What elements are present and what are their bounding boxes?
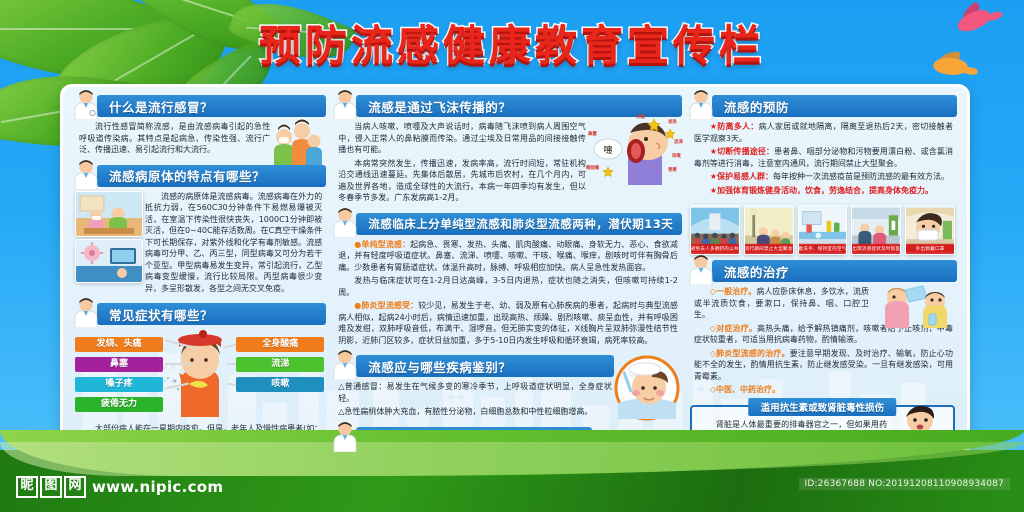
symptom-diagram: 发烧、头痛 鼻塞 嗓子疼 疲倦无力 全身酸痛 流涕 咳嗽 xyxy=(73,327,326,419)
doctor-avatar-icon xyxy=(71,158,101,190)
paragraph: 流感的病原体是流感病毒。流感病毒在外力的抵抗力弱，在560C30分钟条件下易燃易… xyxy=(145,191,322,295)
section-title: 流感应与哪些疾病鉴别？ xyxy=(368,357,511,376)
section-differential-diagnosis: 流感应与哪些疾病鉴别？ △普通感冒：易发生在气候多变的寒冷季节，上呼吸道症状明显… xyxy=(332,355,682,422)
logo-char: 昵 xyxy=(16,476,38,498)
photo-caption: 外出佩戴口罩 xyxy=(906,245,954,254)
site-url[interactable]: www.nipic.com xyxy=(92,478,223,496)
section-treatment: 流感的治疗 ◇一般治疗。病人应卧床休息，多饮水，流质或半流质饮食，要漱口，保持鼻… xyxy=(688,260,957,400)
section-title: 流感病原体的特点有哪些？ xyxy=(109,166,265,185)
column-middle: 流感是通过飞沫传播的？ 当病人咳嗽、喷嚏及大声说话时，病毒随飞沫喷到病人周围空气… xyxy=(332,95,682,449)
doctor-avatar-icon xyxy=(330,348,360,380)
symptom-tag: 流涕 xyxy=(236,357,324,372)
paragraph: 本病常突然发生，传播迅速，发病率高，流行时间短，常驻机构沿交通线迅速蔓延。先集体… xyxy=(338,158,586,204)
footer-wave-decoration-light xyxy=(0,442,1024,476)
poster-title: 预防流感健康教育宣传栏 xyxy=(0,22,1024,70)
paragraph: △急性扁桃体肿大充血，有脓性分泌物，白细胞总数和中性粒细胞增高。 xyxy=(338,406,612,418)
symptom-tag: 鼻塞 xyxy=(75,357,163,372)
photo-card: 出现流感症状及时就医 xyxy=(851,205,901,255)
keyword: ◇肺炎型流感的治疗。 xyxy=(710,349,790,358)
content-panel: 什么是流行感冒？ 流行性感冒简称流感，是由流感病毒引起的急性呼吸道传染病。其特点… xyxy=(60,84,970,458)
photo-caption: 流行期间禁止大型聚会 xyxy=(745,245,793,254)
section-header-bar: 什么是流行感冒？ xyxy=(97,95,326,117)
prevention-photo-strip: 避免去人多拥挤的公共场所 流行期间禁止大 xyxy=(690,205,955,255)
section-what-is-flu: 什么是流行感冒？ 流行性感冒简称流感，是由流感病毒引起的急性呼吸道传染病。其特点… xyxy=(73,95,326,160)
logo-char: 网 xyxy=(64,476,86,498)
doctor-avatar-icon xyxy=(71,296,101,328)
symptom-tag: 疲倦无力 xyxy=(75,397,163,412)
keyword: ★防离多人： xyxy=(710,122,759,131)
section-title: 流感的治疗 xyxy=(724,262,789,281)
footer-bar: 昵 图 网 www.nipic.com ID:26367688 NO:20191… xyxy=(0,450,1024,512)
section-header-bar: 流感的治疗 xyxy=(712,260,957,282)
doctor-avatar-icon xyxy=(71,88,101,120)
svg-text:头痛: 头痛 xyxy=(636,113,645,120)
paragraph: ★加强体育锻炼健身活动，饮食，劳逸结合，提高身体免疫力。 xyxy=(694,185,953,197)
photo-card: 外出佩戴口罩 xyxy=(905,205,955,255)
svg-text:发热: 发热 xyxy=(667,118,677,125)
section-header-bar: 流感临床上分单纯型流感和肺炎型流感两种，潜伏期13天 xyxy=(356,213,682,235)
logo-char: 图 xyxy=(40,476,62,498)
drinking-water-illustration xyxy=(875,284,957,328)
paragraph: 流行性感冒简称流感，是由流感病毒引起的急性呼吸道传染病。其特点是起病急、传染性强… xyxy=(79,121,270,156)
symptom-tag: 全身酸痛 xyxy=(236,337,324,352)
keyword: ◇中医、中药治疗。 xyxy=(710,385,780,394)
symptom-tag: 发烧、头痛 xyxy=(75,337,163,352)
paragraph: △普通感冒：易发生在气候多变的寒冷季节，上呼吸道症状明显，全身症状轻。 xyxy=(338,381,612,404)
svg-text:流涕: 流涕 xyxy=(674,138,683,145)
classroom-illustration xyxy=(75,191,143,237)
paragraph: 发热与临床症状可在1-2月日达高峰，3-5日内退热，症状也随之消失，但咳嗽可持续… xyxy=(338,275,678,298)
photo-card: 避免去人多拥挤的公共场所 xyxy=(690,205,740,255)
section-body: ★防离多人：病人家居或就地隔离，隔离至退热后2天，密切接触者医学观察3天。 ★切… xyxy=(688,117,957,200)
symptom-tag: 嗓子疼 xyxy=(75,377,163,392)
paragraph: 当病人咳嗽、喷嚏及大声说话时，病毒随飞沫喷到病人周围空气中，侵入正常人的鼻粘膜而… xyxy=(338,121,586,156)
keyword: ●肺炎型流感受： xyxy=(354,301,418,310)
coughing-person-illustration: 嚏 头痛发热 流涕咳嗽 鼻塞喉咙痛 畏寒 xyxy=(584,113,684,187)
section-header-bar: 流感的预防 xyxy=(712,95,957,117)
doctor-avatar-icon xyxy=(330,206,360,238)
antibiotic-warning-title: 滥用抗生素或致肾脏毒性损伤 xyxy=(749,398,897,416)
svg-text:咳嗽: 咳嗽 xyxy=(672,152,681,159)
photo-card: 流行期间禁止大型聚会 xyxy=(744,205,794,255)
section-title: 流感临床上分单纯型流感和肺炎型流感两种，潜伏期13天 xyxy=(368,216,673,232)
keyword: ◇对症治疗。 xyxy=(710,324,757,333)
virus-lab-illustration xyxy=(75,239,143,283)
svg-text:鼻塞: 鼻塞 xyxy=(588,130,597,137)
column-left: 什么是流行感冒？ 流行性感冒简称流感，是由流感病毒引起的急性呼吸道传染病。其特点… xyxy=(73,95,326,449)
section-header-bar: 常见症状有哪些？ xyxy=(97,303,326,325)
keyword: ★保护易感人群： xyxy=(710,172,773,181)
photo-caption: 出现流感症状及时就医 xyxy=(852,245,900,254)
section-title: 流感是通过飞沫传播的？ xyxy=(368,97,511,116)
doctor-avatar-icon xyxy=(686,253,716,285)
section-title: 流感的预防 xyxy=(724,97,789,116)
section-prevention: 流感的预防 ★防离多人：病人家居或就地隔离，隔离至退热后2天，密切接触者医学观察… xyxy=(688,95,957,200)
section-droplet-transmission: 流感是通过飞沫传播的？ 当病人咳嗽、喷嚏及大声说话时，病毒随飞沫喷到病人周围空气… xyxy=(332,95,682,208)
family-illustration xyxy=(268,117,326,169)
poster-canvas: 预防流感健康教育宣传栏 xyxy=(0,0,1024,512)
keyword: ◇一般治疗。 xyxy=(710,287,756,296)
image-id-tag: ID:26367688 NO:20191208110908934087 xyxy=(799,478,1011,490)
keyword: ●单纯型流感： xyxy=(354,240,410,249)
svg-text:嚏: 嚏 xyxy=(603,144,612,156)
sick-child-in-bed-illustration xyxy=(612,355,682,421)
paragraph: ●肺炎型流感受：较少见，易发生于老、幼、弱及原有心肺疾病的患者，起病时与典型流感… xyxy=(338,300,678,346)
section-title: 什么是流行感冒？ xyxy=(109,97,213,116)
section-clinical-types: 流感临床上分单纯型流感和肺炎型流感两种，潜伏期13天 ●单纯型流感：起病急、畏寒… xyxy=(332,213,682,351)
sick-person-illustration xyxy=(151,329,249,419)
paragraph: ★保护易感人群：每年按种一次流感疫苗是预防流感的最有效方法。 xyxy=(694,171,953,183)
keyword: ★加强体育锻炼健身活动，饮食，劳逸结合，提高身体免疫力。 xyxy=(710,186,933,195)
paragraph: ◇肺炎型流感的治疗。要注意早期发现、及时治疗、输氧，防止心功能不全的发生，酌情用… xyxy=(694,348,953,383)
photo-caption: 勤洗手、保持室内空气流通 xyxy=(799,245,847,254)
doctor-avatar-icon xyxy=(330,88,360,120)
paragraph: ◇中医、中药治疗。 xyxy=(694,384,953,396)
paragraph: ★切断传播途径：患者鼻、咽部分泌物和污物要用漂白粉、或含氯消毒剂等进行消毒，注意… xyxy=(694,146,953,169)
paragraph: ★防离多人：病人家居或就地隔离，隔离至退热后2天，密切接触者医学观察3天。 xyxy=(694,121,953,144)
poster-title-text: 预防流感健康教育宣传栏 xyxy=(259,22,765,70)
section-header-bar: 流感应与哪些疾病鉴别？ xyxy=(356,355,614,377)
symptom-tag: 咳嗽 xyxy=(236,377,324,392)
keyword: ★切断传播途径： xyxy=(710,147,774,156)
svg-text:喉咙痛: 喉咙痛 xyxy=(586,164,600,171)
photo-card: 勤洗手、保持室内空气流通 xyxy=(798,205,848,255)
logo-characters: 昵 图 网 xyxy=(16,476,86,498)
column-right: 流感的预防 ★防离多人：病人家居或就地隔离，隔离至退热后2天，密切接触者医学观察… xyxy=(688,95,957,449)
site-logo[interactable]: 昵 图 网 www.nipic.com xyxy=(16,476,223,498)
section-body: ●单纯型流感：起病急、畏寒、发热、头痛、肌肉酸痛、动眼痛、身软无力、恶心、食欲减… xyxy=(332,235,682,351)
section-header-bar: 流感病原体的特点有哪些？ xyxy=(97,165,326,187)
paragraph: ●单纯型流感：起病急、畏寒、发热、头痛、肌肉酸痛、动眼痛、身软无力、恶心、食欲减… xyxy=(338,239,678,274)
svg-text:畏寒: 畏寒 xyxy=(668,166,677,173)
section-title: 常见症状有哪些？ xyxy=(109,305,213,324)
doctor-avatar-icon xyxy=(686,88,716,120)
section-pathogen-features: 流感病原体的特点有哪些？ xyxy=(73,165,326,299)
doctor-avatar-icon xyxy=(330,420,360,452)
